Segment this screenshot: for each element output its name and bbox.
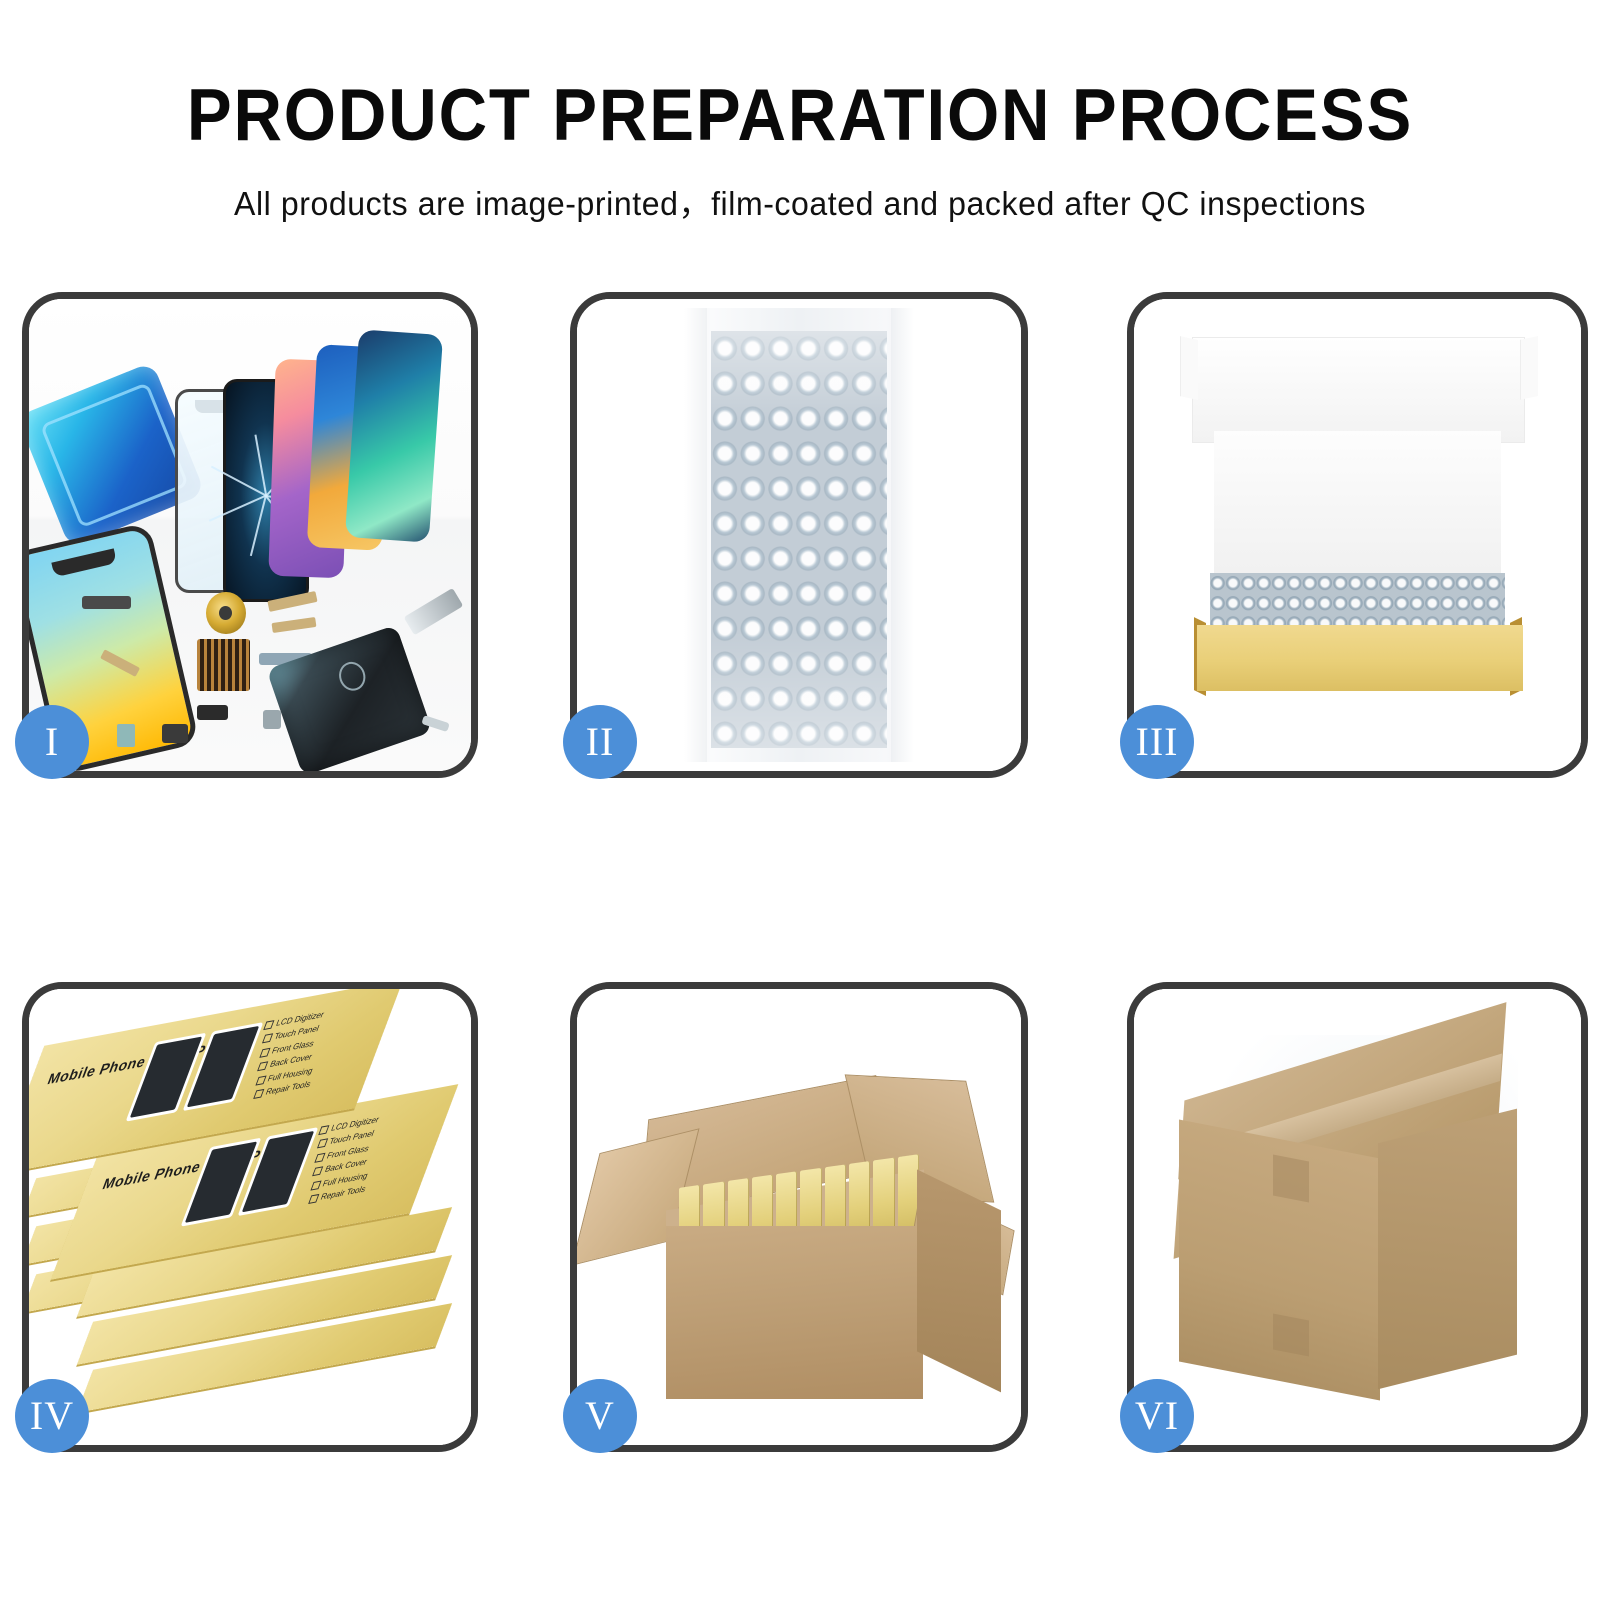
connector-part-icon xyxy=(197,705,228,720)
panel-2-image xyxy=(577,299,1021,771)
process-step-panel-2[interactable]: II xyxy=(570,292,1028,778)
bag-seal-right xyxy=(891,308,914,761)
bubble-wrap-illustration xyxy=(577,299,1021,771)
process-step-panel-5[interactable]: V xyxy=(570,982,1028,1452)
step-badge-5: V xyxy=(563,1379,637,1453)
process-grid: I II III xyxy=(0,0,1600,1600)
box-stack-item-printed: Mobile Phone Spare Parts LCD Digitizer T… xyxy=(29,1017,379,1137)
process-step-panel-1[interactable]: I xyxy=(22,292,478,778)
step-badge-3: III xyxy=(1120,705,1194,779)
sim-tray-part-icon xyxy=(117,724,135,748)
panel-4-image: Mobile Phone Spare Parts LCD Digitizer T… xyxy=(29,989,471,1445)
wrapped-product-in-box xyxy=(1210,573,1505,630)
carton-seam-upper xyxy=(1273,1154,1309,1202)
box-lid-flap xyxy=(1192,337,1525,443)
carton-filling-illustration xyxy=(577,989,1021,1445)
sealed-carton-illustration xyxy=(1134,989,1581,1445)
step-badge-4: IV xyxy=(15,1379,89,1453)
panel-6-image xyxy=(1134,989,1581,1445)
bubble-wrap-bag xyxy=(684,308,915,761)
step-badge-6: VI xyxy=(1120,1379,1194,1453)
bubble-pattern xyxy=(711,331,886,748)
carton-side-panel xyxy=(1378,1109,1517,1390)
process-step-panel-6[interactable]: VI xyxy=(1127,982,1588,1452)
button-part-icon xyxy=(162,724,189,743)
carton-side-panel xyxy=(917,1169,1001,1393)
panel-5-image xyxy=(577,989,1021,1445)
box-checklist: LCD Digitizer Touch Panel Front Glass Ba… xyxy=(230,996,380,1120)
flex-cable-part-icon xyxy=(272,617,317,633)
carton-front-panel xyxy=(666,1226,924,1399)
box-inner-wall xyxy=(1214,431,1500,582)
vibration-motor-part-icon xyxy=(206,592,246,634)
box-stack-illustration: Mobile Phone Spare Parts LCD Digitizer T… xyxy=(29,989,471,1445)
step-badge-2: II xyxy=(563,705,637,779)
panel-1-image xyxy=(29,299,471,771)
bag-seal-left xyxy=(684,308,707,761)
carton-seam-lower xyxy=(1273,1314,1309,1357)
parts-collage-illustration xyxy=(29,299,471,771)
repair-tool-icon xyxy=(403,588,463,636)
step-badge-1: I xyxy=(15,705,89,779)
camera-part-icon xyxy=(263,710,281,729)
inner-box-illustration xyxy=(1134,299,1581,771)
box-stack: Mobile Phone Spare Parts LCD Digitizer T… xyxy=(29,1025,471,1426)
box-front-panel xyxy=(1197,625,1523,691)
speaker-part-icon xyxy=(82,596,131,608)
phone-teal-gradient-graphic xyxy=(345,329,443,542)
ic-chip-part-icon xyxy=(197,639,250,691)
process-step-panel-4[interactable]: Mobile Phone Spare Parts LCD Digitizer T… xyxy=(22,982,478,1452)
process-step-panel-3[interactable]: III xyxy=(1127,292,1588,778)
panel-3-image xyxy=(1134,299,1581,771)
crack-lines-icon xyxy=(266,495,267,496)
phone-housing-graphic xyxy=(266,624,432,771)
